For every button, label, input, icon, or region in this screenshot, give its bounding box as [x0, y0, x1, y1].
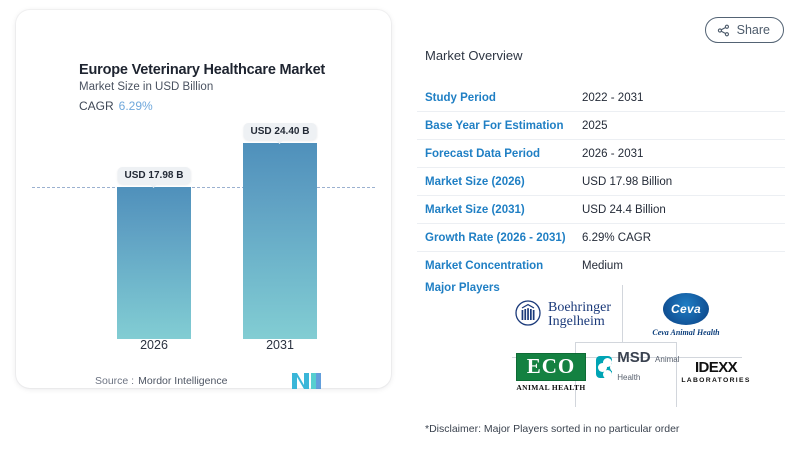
row-value: USD 17.98 Billion [582, 176, 672, 188]
reference-dashed-line [32, 187, 375, 188]
eco-caption: ANIMAL HEALTH [516, 383, 585, 392]
boehringer-line2: Ingelheim [548, 314, 605, 329]
ceva-mark-icon: Ceva [663, 293, 709, 325]
chart-cagr-value: 6.29% [119, 99, 153, 113]
player-logo-boehringer-ingelheim: Boehringer Ingelheim [504, 285, 622, 345]
bar-2031[interactable] [243, 143, 317, 339]
bar-value-label-2026: USD 17.98 B [118, 167, 191, 184]
player-logo-ceva-animal-health: Ceva Ceva Animal Health [634, 285, 738, 345]
boehringer-mark-icon [515, 300, 541, 331]
x-axis-tick-2031: 2031 [266, 338, 294, 352]
share-button-label: Share [737, 23, 770, 37]
table-row: Market Concentration Medium [417, 252, 785, 279]
major-players-logo-collage: Boehringer Ingelheim Ceva Ceva Animal He… [504, 285, 748, 407]
row-key: Study Period [417, 92, 582, 104]
table-row: Growth Rate (2026 - 2031) 6.29% CAGR [417, 224, 785, 252]
chart-card: Europe Veterinary Healthcare Market Mark… [16, 10, 391, 388]
table-row: Study Period 2022 - 2031 [417, 84, 785, 112]
table-row: Forecast Data Period 2026 - 2031 [417, 140, 785, 168]
idexx-wordmark: IDEXX [681, 360, 750, 376]
idexx-caption: LABORATORIES [681, 376, 750, 385]
chart-cagr: CAGR6.29% [79, 99, 153, 113]
row-value: USD 24.4 Billion [582, 204, 666, 216]
row-key: Market Size (2026) [417, 176, 582, 188]
eco-wordmark: ECO [516, 353, 585, 381]
chart-source: Source :Mordor Intelligence [95, 375, 227, 387]
share-button[interactable]: Share [705, 17, 784, 43]
ceva-caption: Ceva Animal Health [652, 328, 719, 337]
row-key: Base Year For Estimation [417, 120, 582, 132]
bar-chart-plot-area: USD 17.98 B USD 24.40 B 2026 2031 [32, 122, 375, 367]
row-key: Growth Rate (2026 - 2031) [417, 232, 582, 244]
share-icon [717, 24, 730, 37]
chart-title: Europe Veterinary Healthcare Market [79, 62, 325, 78]
source-name: Mordor Intelligence [138, 375, 227, 387]
row-value: 6.29% CAGR [582, 232, 651, 244]
msd-mark-icon [596, 356, 612, 378]
row-key: Market Size (2031) [417, 204, 582, 216]
table-row: Market Size (2026) USD 17.98 Billion [417, 168, 785, 196]
row-value: 2026 - 2031 [582, 148, 643, 160]
row-key: Market Concentration [417, 260, 582, 272]
row-value: 2025 [582, 120, 608, 132]
disclaimer-text: *Disclaimer: Major Players sorted in no … [425, 423, 679, 435]
market-overview-table: Study Period 2022 - 2031 Base Year For E… [417, 84, 785, 279]
bar-2026[interactable] [117, 187, 191, 339]
report-overview-page: Europe Veterinary Healthcare Market Mark… [0, 0, 800, 459]
market-overview-title: Market Overview [425, 48, 523, 63]
source-label: Source : [95, 375, 134, 387]
msd-wordmark: MSD [617, 349, 650, 366]
bar-value-label-2031: USD 24.40 B [244, 123, 317, 140]
row-value: Medium [582, 260, 623, 272]
collage-divider [622, 285, 623, 342]
player-logo-idexx-laboratories: IDEXX LABORATORIES [680, 349, 752, 395]
table-row: Base Year For Estimation 2025 [417, 112, 785, 140]
player-logo-eco-animal-health: ECO ANIMAL HEALTH [510, 347, 592, 397]
table-row: Market Size (2031) USD 24.4 Billion [417, 196, 785, 224]
mordor-intelligence-logo [292, 372, 322, 390]
x-axis-tick-2026: 2026 [140, 338, 168, 352]
player-logo-msd-animal-health: MSD Animal Health [596, 341, 682, 393]
boehringer-wordmark: Boehringer Ingelheim [548, 301, 611, 329]
chart-subtitle: Market Size in USD Billion [79, 81, 213, 93]
row-key: Forecast Data Period [417, 148, 582, 160]
chart-cagr-label: CAGR [79, 99, 114, 113]
boehringer-line1: Boehringer [548, 300, 611, 315]
ceva-mark-text: Ceva [671, 302, 701, 316]
row-value: 2022 - 2031 [582, 92, 643, 104]
major-players-label: Major Players [425, 282, 500, 294]
